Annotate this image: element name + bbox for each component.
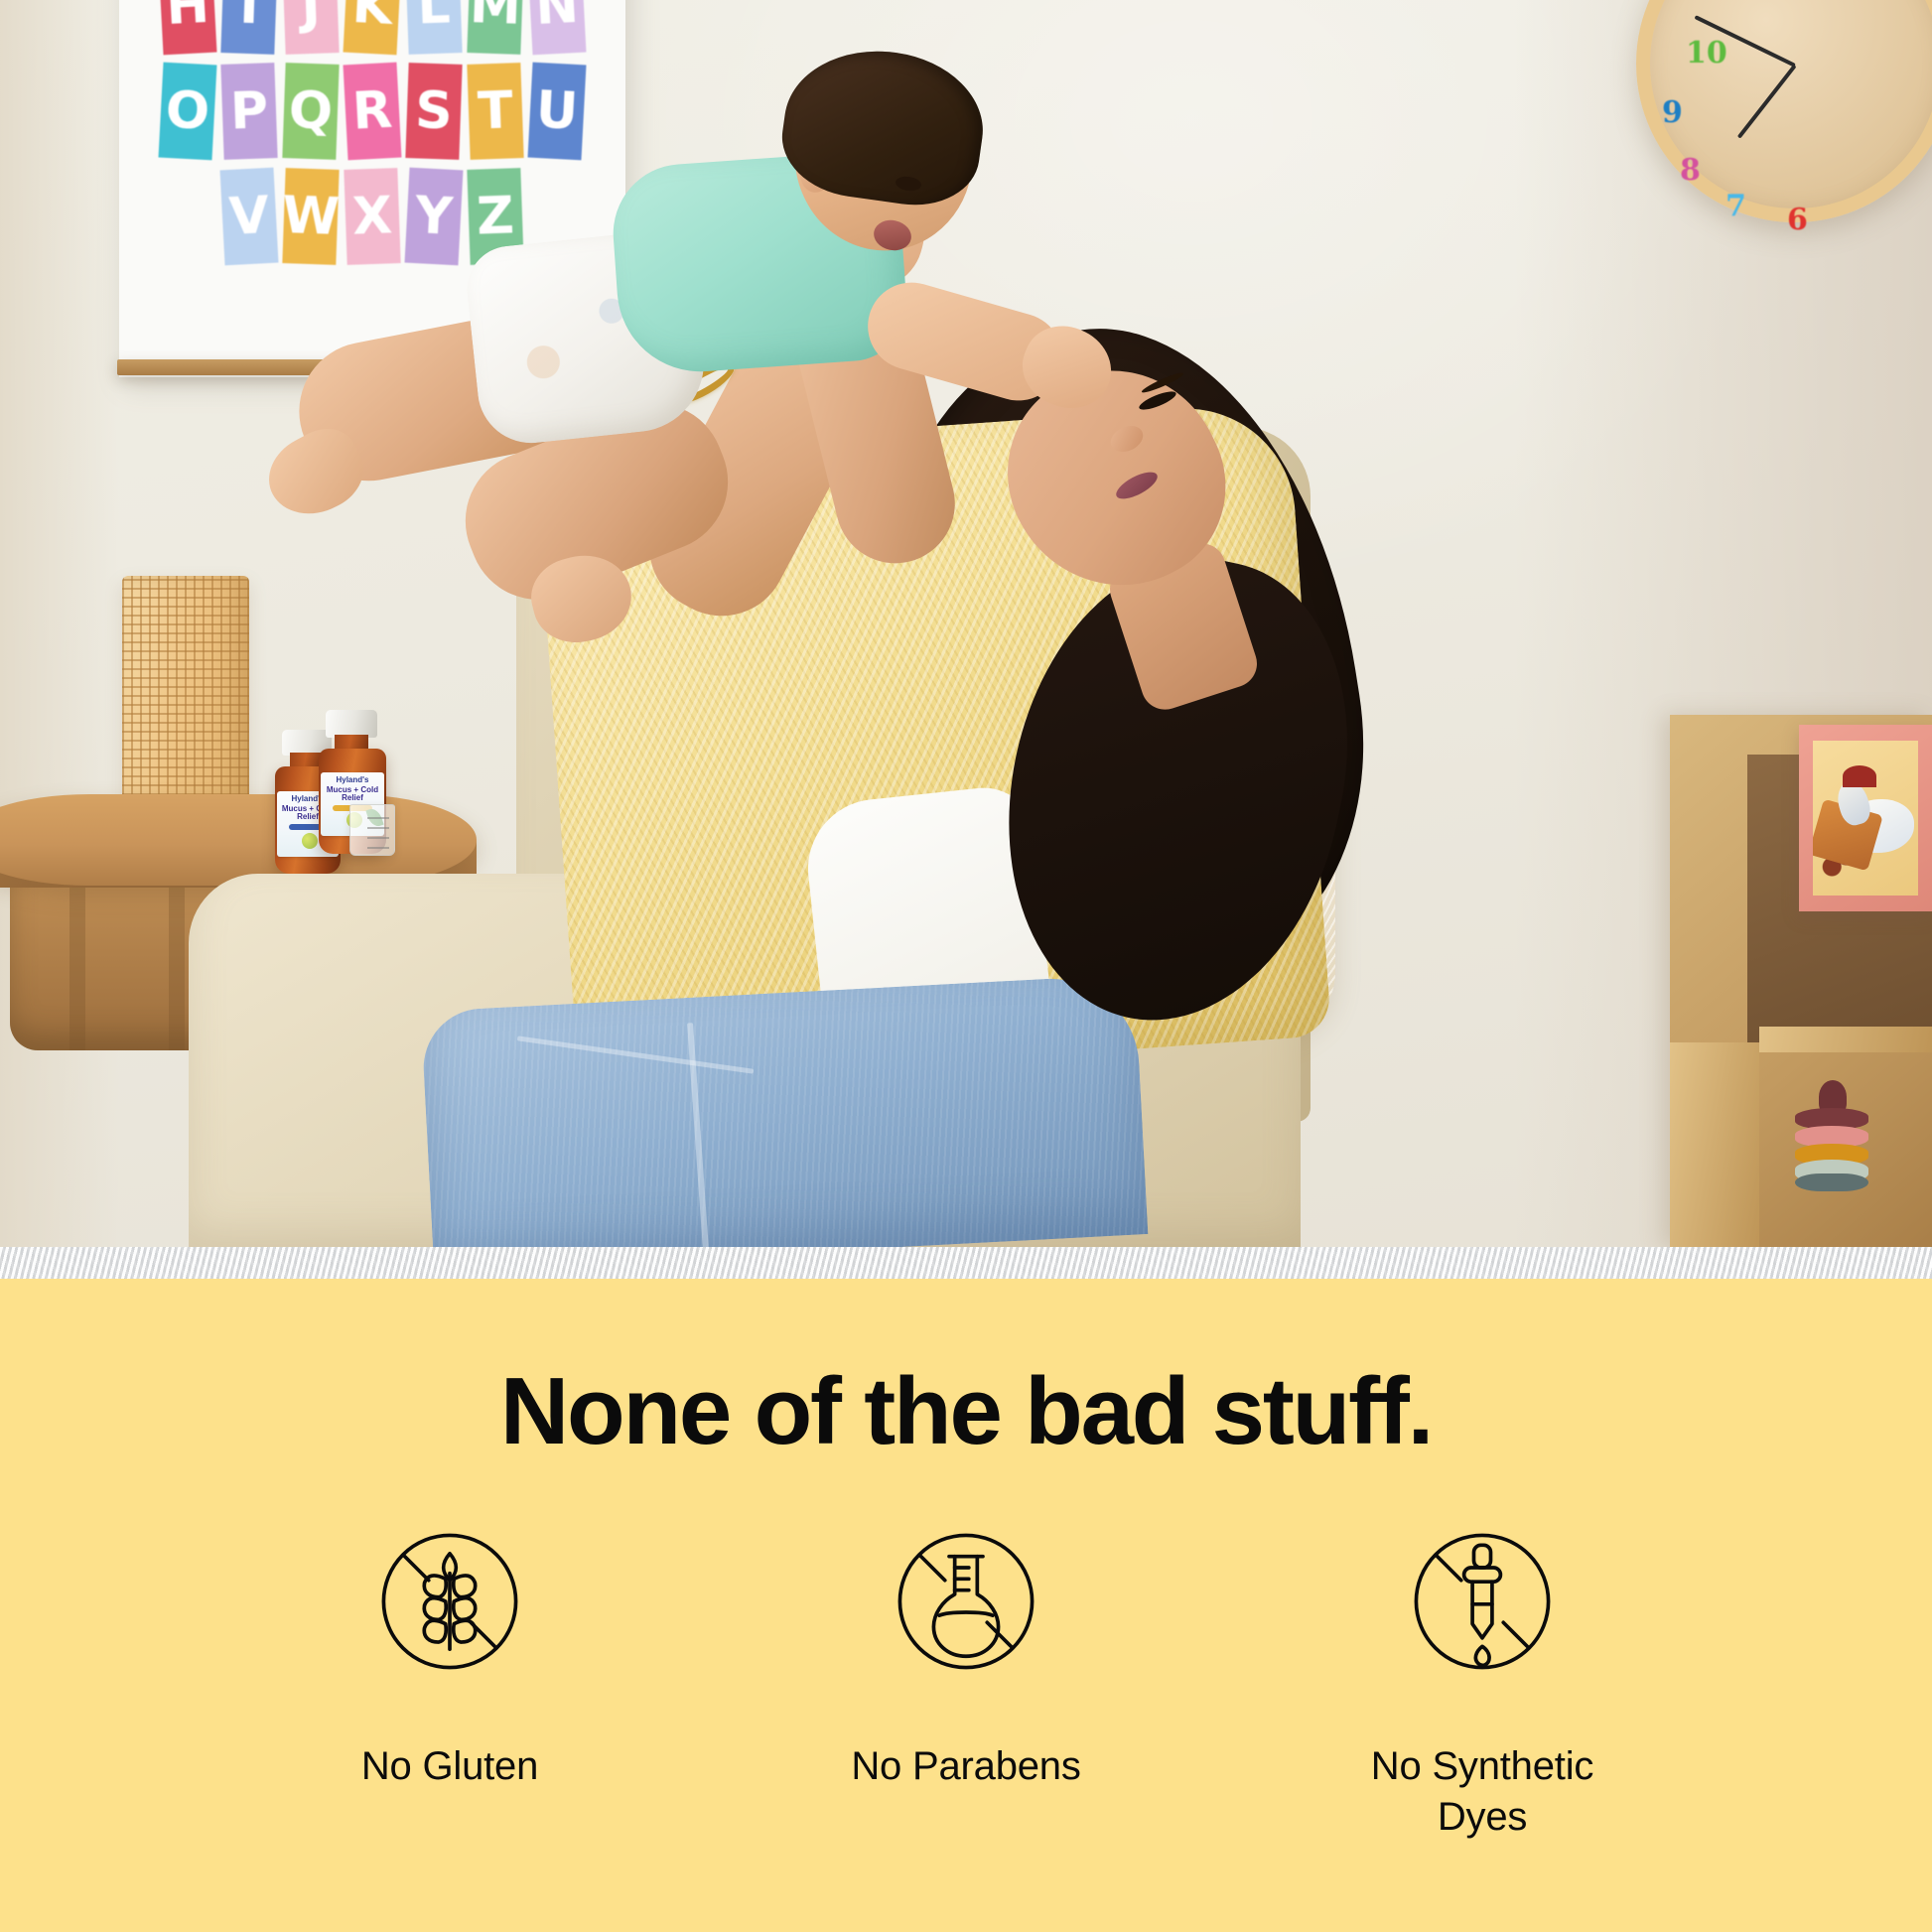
letter-tile: U <box>528 63 587 161</box>
feature-no-synthetic-dyes: No Synthetic Dyes <box>1224 1517 1740 1843</box>
no-synthetic-dyes-icon <box>1398 1517 1567 1686</box>
side-table-slat <box>69 872 85 1050</box>
picture-artwork <box>1813 741 1918 896</box>
feature-label: No Parabens <box>851 1741 1080 1792</box>
page-title: None of the bad stuff. <box>0 1362 1932 1461</box>
bottle-brand: Hyland's <box>321 775 384 784</box>
letter-tile: H <box>159 0 217 55</box>
framed-rooster-picture <box>1799 725 1932 911</box>
lifestyle-photo: H I J K L M N O P Q R S T U <box>0 0 1932 1249</box>
clock-numeral: 7 <box>1725 189 1746 223</box>
feature-row: No Gluten No <box>0 1517 1932 1843</box>
white-textured-rug <box>0 1247 1932 1281</box>
letter-tile: S <box>405 63 462 160</box>
product-lifestyle-banner: H I J K L M N O P Q R S T U <box>0 0 1932 1932</box>
letter-tile: I <box>220 0 277 55</box>
letter-tile: L <box>405 0 462 55</box>
fruit-icon <box>302 833 318 849</box>
clock-numeral: 9 <box>1662 95 1683 130</box>
rattan-table-lamp <box>122 576 249 804</box>
side-table-slat <box>169 872 185 1050</box>
shelf-panel <box>1670 1042 1759 1249</box>
letter-tile: Y <box>405 168 464 266</box>
poster-row: H I J K L M N <box>137 0 608 54</box>
feature-no-parabens: No Parabens <box>708 1517 1224 1792</box>
letter-tile: Q <box>282 63 339 160</box>
wall-shadow-left <box>0 0 119 1249</box>
letter-tile: J <box>282 0 339 55</box>
letter-tile: X <box>344 168 400 265</box>
side-table-top <box>0 794 477 886</box>
letter-tile: R <box>344 63 402 161</box>
letter-tile: P <box>220 63 277 160</box>
shelf-board <box>1759 1027 1932 1052</box>
bottle-cap <box>326 710 377 738</box>
feature-label: No Gluten <box>361 1741 538 1792</box>
letter-tile: K <box>344 0 402 55</box>
letter-tile: N <box>528 0 587 55</box>
letter-tile: M <box>467 0 523 55</box>
no-gluten-icon <box>365 1517 534 1686</box>
stacking-toy <box>1795 1102 1868 1187</box>
bottle-product: Mucus + Cold Relief <box>321 786 384 803</box>
letter-tile: V <box>220 168 279 266</box>
mother-jeans <box>421 974 1149 1249</box>
no-parabens-icon <box>882 1517 1050 1686</box>
clock-hour-hand <box>1737 65 1797 139</box>
letter-tile: T <box>467 63 523 160</box>
poster-row: O P Q R S T U <box>137 64 608 159</box>
letter-tile: W <box>282 168 339 265</box>
letter-tile: O <box>159 63 217 161</box>
clock-numeral: 6 <box>1787 203 1808 237</box>
feature-no-gluten: No Gluten <box>192 1517 708 1792</box>
claims-band: None of the bad stuff. <box>0 1279 1932 1932</box>
rooster-comb <box>1843 765 1876 787</box>
clock-numeral: 8 <box>1680 153 1701 188</box>
feature-label: No Synthetic Dyes <box>1333 1741 1631 1843</box>
clock-numeral: 10 <box>1686 36 1727 70</box>
dosing-cup <box>349 804 395 856</box>
